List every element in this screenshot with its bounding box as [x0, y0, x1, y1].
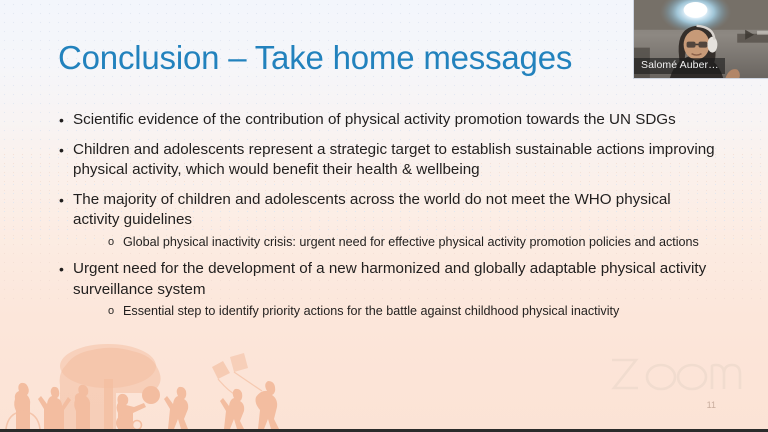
bullet-marker-icon: •	[59, 259, 64, 280]
bullet-marker-icon: •	[59, 110, 64, 131]
sub-bullet-marker-icon: o	[108, 234, 114, 251]
sub-bullet-marker-icon: o	[108, 303, 114, 320]
bullet-marker-icon: •	[59, 140, 64, 161]
participant-name-label: Salomé Auber…	[634, 58, 725, 74]
participant-video-tile[interactable]: Salomé Auber…	[633, 0, 768, 79]
bullet-text: The majority of children and adolescents…	[73, 191, 671, 229]
bullet-item: • Children and adolescents represent a s…	[56, 140, 718, 181]
sub-bullet-item: o Global physical inactivity crisis: urg…	[73, 234, 718, 251]
bullet-text: Scientific evidence of the contribution …	[73, 111, 676, 128]
bullet-item: • The majority of children and adolescen…	[56, 190, 718, 251]
bullet-item: • Scientific evidence of the contributio…	[56, 110, 718, 131]
bullet-text: Urgent need for the development of a new…	[73, 260, 706, 298]
zoom-screen-share-view: 11 Conclusion – Take home messages • Sci…	[0, 0, 768, 432]
sub-bullet-text: Essential step to identify priority acti…	[123, 304, 619, 318]
slide-page-number: 11	[707, 400, 716, 410]
bullet-item: • Urgent need for the development of a n…	[56, 259, 718, 320]
bullet-text: Children and adolescents represent a str…	[73, 141, 715, 179]
sub-bullet-item: o Essential step to identify priority ac…	[73, 303, 718, 320]
sub-bullet-list: o Essential step to identify priority ac…	[73, 303, 718, 320]
sub-bullet-list: o Global physical inactivity crisis: urg…	[73, 234, 718, 251]
bullet-marker-icon: •	[59, 190, 64, 211]
sub-bullet-text: Global physical inactivity crisis: urgen…	[123, 235, 699, 249]
slide-body-bullet-list: • Scientific evidence of the contributio…	[56, 110, 718, 329]
page-title: Conclusion – Take home messages	[58, 38, 572, 78]
